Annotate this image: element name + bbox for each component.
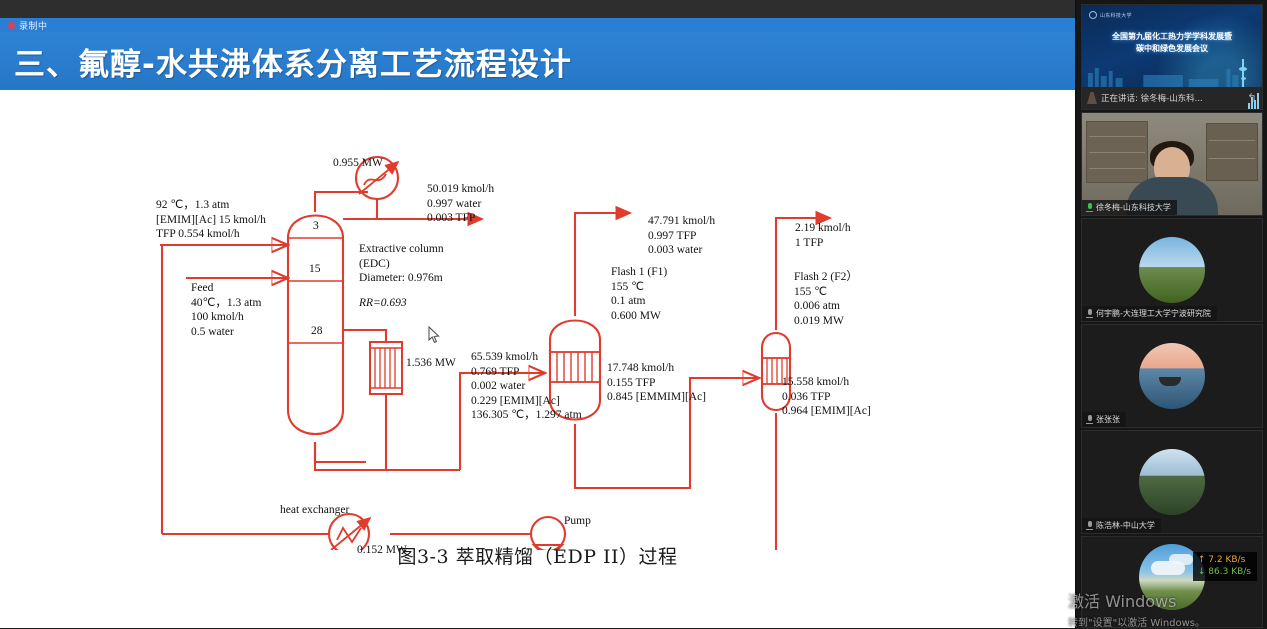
flow-label-flash1-spec: Flash 1 (F1) 155 ℃ 0.1 atm 0.600 MW	[611, 265, 667, 323]
recording-label: 录制中	[19, 19, 48, 32]
recording-strip	[0, 18, 1075, 32]
participant-name-text: 张张张	[1096, 414, 1120, 425]
mic-off-icon	[1086, 521, 1093, 530]
participant-name-chen: 陈浩林-中山大学	[1082, 518, 1161, 533]
avatar-background-last	[1082, 537, 1262, 627]
download-rate: ↓ 86.3 KB/s	[1198, 566, 1251, 578]
audio-level-icon	[1248, 87, 1260, 109]
record-dot-icon	[8, 22, 15, 29]
video-tile-participant-he[interactable]: 何宇鹏-大连理工大学宁波研究院	[1081, 218, 1263, 322]
participant-name-zhang: 张张张	[1082, 412, 1126, 427]
participant-name-xu: 徐冬梅-山东科技大学	[1082, 200, 1177, 215]
avatar-photo-mountain	[1139, 449, 1205, 515]
flow-label-stage-28: 28	[311, 324, 323, 339]
flow-label-flash2-spec: Flash 2 (F2） 155 ℃ 0.006 atm 0.019 MW	[794, 270, 858, 328]
flow-label-reboiler-duty: 1.536 MW	[406, 356, 456, 371]
video-tile-participant-chen[interactable]: 陈浩林-中山大学	[1081, 430, 1263, 534]
flow-label-feed-spec: Feed 40℃，1.3 atm 100 kmol/h 0.5 water	[191, 281, 261, 339]
video-tile-conference-banner[interactable]: 山东科技大学 全国第九届化工热力学学科发展暨 碳中和绿色发展会议	[1081, 4, 1263, 110]
flow-label-f1-bottom-stream: 17.748 kmol/h 0.155 TFP 0.845 [EMMIM][Ac…	[607, 361, 706, 405]
flow-label-f2-bottom-stream: 15.558 kmol/h 0.036 TFP 0.964 [EMIM][Ac]	[782, 375, 871, 419]
share-top-strip	[0, 0, 1075, 18]
flow-label-f2-top-product: 2.19 kmol/h 1 TFP	[795, 221, 851, 250]
flow-label-solvent-feed-spec: 92 ℃，1.3 atm [EMIM][Ac] 15 kmol/h TFP 0.…	[156, 198, 266, 242]
logo-ring-icon	[1089, 11, 1097, 19]
banner-line-1: 全国第九届化工热力学学科发展暨	[1082, 31, 1262, 42]
active-speaker-bar[interactable]: 正在讲话: 徐冬梅-山东科... ↰	[1082, 87, 1262, 109]
flow-label-f1-top-product: 47.791 kmol/h 0.997 TFP 0.003 water	[648, 214, 715, 258]
flow-label-stage-3: 3	[313, 219, 319, 234]
university-logo: 山东科技大学	[1089, 11, 1132, 19]
figure-caption: 图3-3 萃取精馏（EDP II）过程	[0, 542, 1075, 569]
flow-label-edc-bottom-stream: 65.539 kmol/h 0.769 TFP 0.002 water 0.22…	[471, 350, 582, 423]
network-stats: ↑ 7.2 KB/s ↓ 86.3 KB/s	[1193, 552, 1257, 581]
video-tile-participant-last[interactable]	[1081, 536, 1263, 628]
banner-line-2: 碳中和绿色发展会议	[1082, 43, 1262, 54]
flow-label-edc-name: Extractive column (EDC) Diameter: 0.976m	[359, 242, 444, 286]
flow-label-pump-name: Pump	[564, 514, 591, 529]
flow-label-edc-top-product: 50.019 kmol/h 0.997 water 0.003 TFP	[427, 182, 494, 226]
avatar	[1139, 343, 1205, 409]
mic-off-icon	[1086, 415, 1093, 424]
avatar-photo-landscape	[1139, 237, 1205, 303]
participant-video-panel: 山东科技大学 全国第九届化工热力学学科发展暨 碳中和绿色发展会议	[1075, 0, 1267, 628]
presentation-share-area: 录制中 三、氟醇-水共沸体系分离工艺流程设计	[0, 0, 1075, 628]
avatar-photo-sea	[1139, 343, 1205, 409]
participant-name-text: 徐冬梅-山东科技大学	[1096, 202, 1171, 213]
flow-label-edc-rr: RR=0.693	[359, 296, 407, 311]
speaker-icon	[1087, 92, 1097, 104]
slide-title: 三、氟醇-水共沸体系分离工艺流程设计	[14, 39, 572, 84]
recording-indicator: 录制中	[8, 18, 48, 32]
mic-on-icon	[1086, 203, 1093, 212]
participant-name-text: 何宇鹏-大连理工大学宁波研究院	[1096, 308, 1211, 319]
flow-label-condenser-duty: 0.955 MW	[333, 156, 383, 171]
cloud-shape	[1169, 554, 1193, 565]
slide-body: 0.955 MW92 ℃，1.3 atm [EMIM][Ac] 15 kmol/…	[0, 90, 1075, 628]
active-speaker-label: 正在讲话: 徐冬梅-山东科...	[1101, 92, 1243, 104]
video-tile-participant-xu[interactable]: 徐冬梅-山东科技大学	[1081, 112, 1263, 216]
logo-text: 山东科技大学	[1100, 12, 1132, 19]
participant-name-text: 陈浩林-中山大学	[1096, 520, 1155, 531]
flow-label-heat-exchanger-name: heat exchanger	[280, 503, 349, 518]
avatar	[1139, 449, 1205, 515]
bookshelf-left	[1086, 121, 1148, 183]
mic-off-icon	[1086, 309, 1093, 318]
avatar	[1139, 237, 1205, 303]
skyline-graphic	[1082, 63, 1262, 87]
boat-shape	[1159, 377, 1181, 386]
video-tile-participant-zhang[interactable]: 张张张	[1081, 324, 1263, 428]
upload-rate: ↑ 7.2 KB/s	[1198, 554, 1251, 566]
bookshelf-right	[1206, 123, 1258, 181]
process-flow-diagram: 0.955 MW92 ℃，1.3 atm [EMIM][Ac] 15 kmol/…	[0, 90, 1075, 628]
flow-label-stage-15: 15	[309, 262, 321, 277]
screen-root: 录制中 三、氟醇-水共沸体系分离工艺流程设计	[0, 0, 1267, 628]
participant-name-he: 何宇鹏-大连理工大学宁波研究院	[1082, 306, 1217, 321]
flowsheet-svg	[0, 90, 1075, 550]
